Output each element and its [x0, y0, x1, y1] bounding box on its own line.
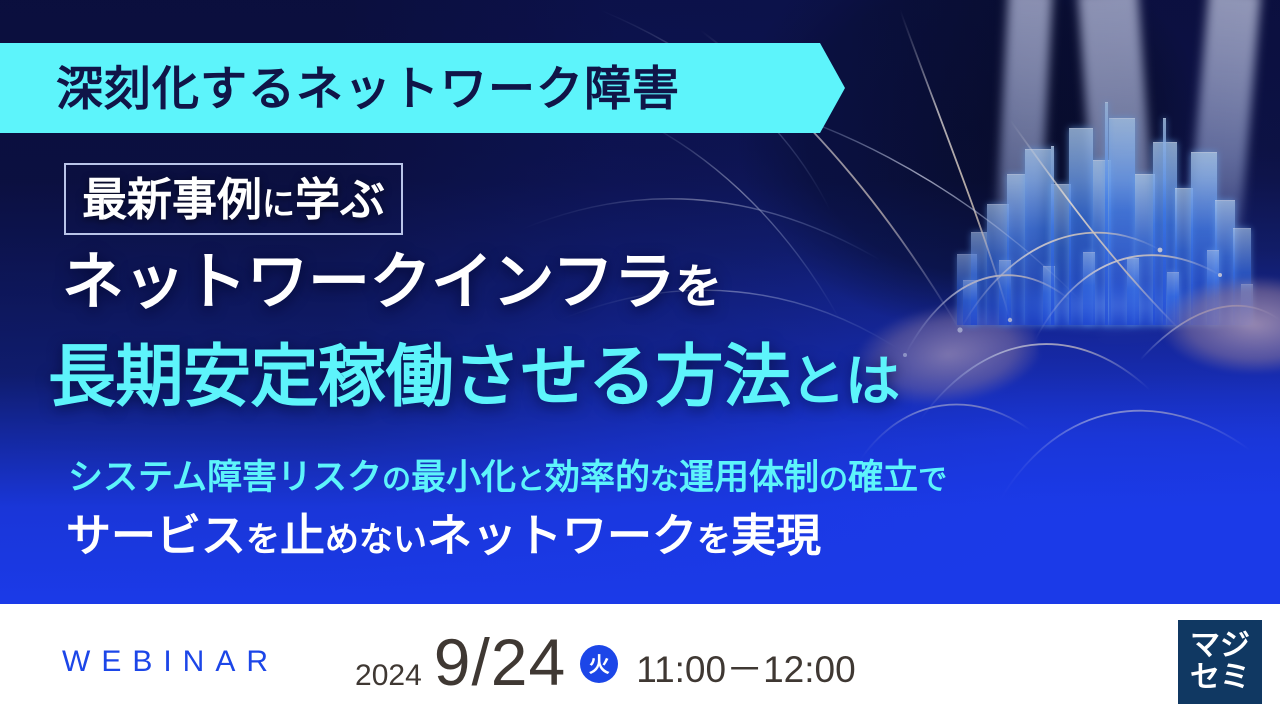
sub-1-particle-2: と: [516, 464, 545, 496]
sub-2-part-1: サービス: [66, 510, 246, 561]
sub-1-particle-1: の: [382, 464, 411, 496]
sub-1-part-5: 確立: [848, 458, 918, 497]
subheadline-line-2: サービスを止めないネットワークを実現: [66, 513, 821, 558]
headline-2-particle: とは: [791, 350, 900, 412]
sub-1-part-1: システム障害リスク: [68, 458, 382, 497]
headline-1-main: ネットワークインフラ: [62, 248, 675, 317]
logo-line-1: マジ: [1190, 630, 1250, 662]
kicker-main: 最新事例: [82, 174, 262, 225]
sub-2-particle-2: めない: [325, 521, 427, 559]
event-time-range: 11:00－12:00: [636, 639, 855, 693]
kicker-particle: に: [262, 185, 295, 222]
headline-1-particle: を: [675, 260, 722, 313]
sub-1-particle-5: で: [918, 464, 947, 496]
kicker-tail: 学ぶ: [295, 174, 385, 225]
ribbon-label: 深刻化するネットワーク障害: [56, 65, 680, 112]
sub-2-part-2: 止: [280, 510, 325, 561]
logo-line-2: セミ: [1190, 662, 1250, 694]
topic-ribbon: 深刻化するネットワーク障害: [0, 43, 845, 133]
sub-1-particle-3: な: [650, 464, 679, 496]
banner-footer: WEBINAR 2024 9/24 火 11:00－12:00 マジ セミ: [0, 604, 1280, 720]
headline-line-2: 長期安定稼働させる方法とは: [48, 343, 900, 411]
day-of-week-badge: 火: [580, 645, 618, 683]
sub-2-part-3: ネットワーク: [427, 510, 697, 561]
sub-2-part-4: 実現: [731, 510, 821, 561]
sub-1-part-2: 最小化: [411, 458, 516, 497]
banner-content: 深刻化するネットワーク障害 最新事例に学ぶ ネットワークインフラを 長期安定稼働…: [0, 0, 1280, 604]
sub-1-part-3: 効率的: [545, 458, 650, 497]
kicker-label: 最新事例に学ぶ: [82, 177, 385, 222]
headline-2-main: 長期安定稼働させる方法: [48, 339, 791, 415]
subheadline-line-1: システム障害リスクの最小化と効率的な運用体制の確立で: [68, 460, 947, 495]
majisemi-logo: マジ セミ: [1178, 620, 1262, 704]
sub-2-particle-1: を: [246, 521, 280, 559]
event-datetime: 2024 9/24 火 11:00－12:00: [355, 629, 856, 695]
sub-1-particle-4: の: [819, 464, 848, 496]
headline-line-1: ネットワークインフラを: [62, 252, 722, 314]
event-year: 2024: [355, 659, 422, 693]
webinar-label: WEBINAR: [62, 647, 279, 677]
event-month-day: 9/24: [434, 629, 566, 695]
sub-1-part-4: 運用体制: [679, 458, 819, 497]
sub-2-particle-3: を: [697, 521, 731, 559]
webinar-banner: 深刻化するネットワーク障害 最新事例に学ぶ ネットワークインフラを 長期安定稼働…: [0, 0, 1280, 720]
kicker-box: 最新事例に学ぶ: [64, 163, 403, 235]
